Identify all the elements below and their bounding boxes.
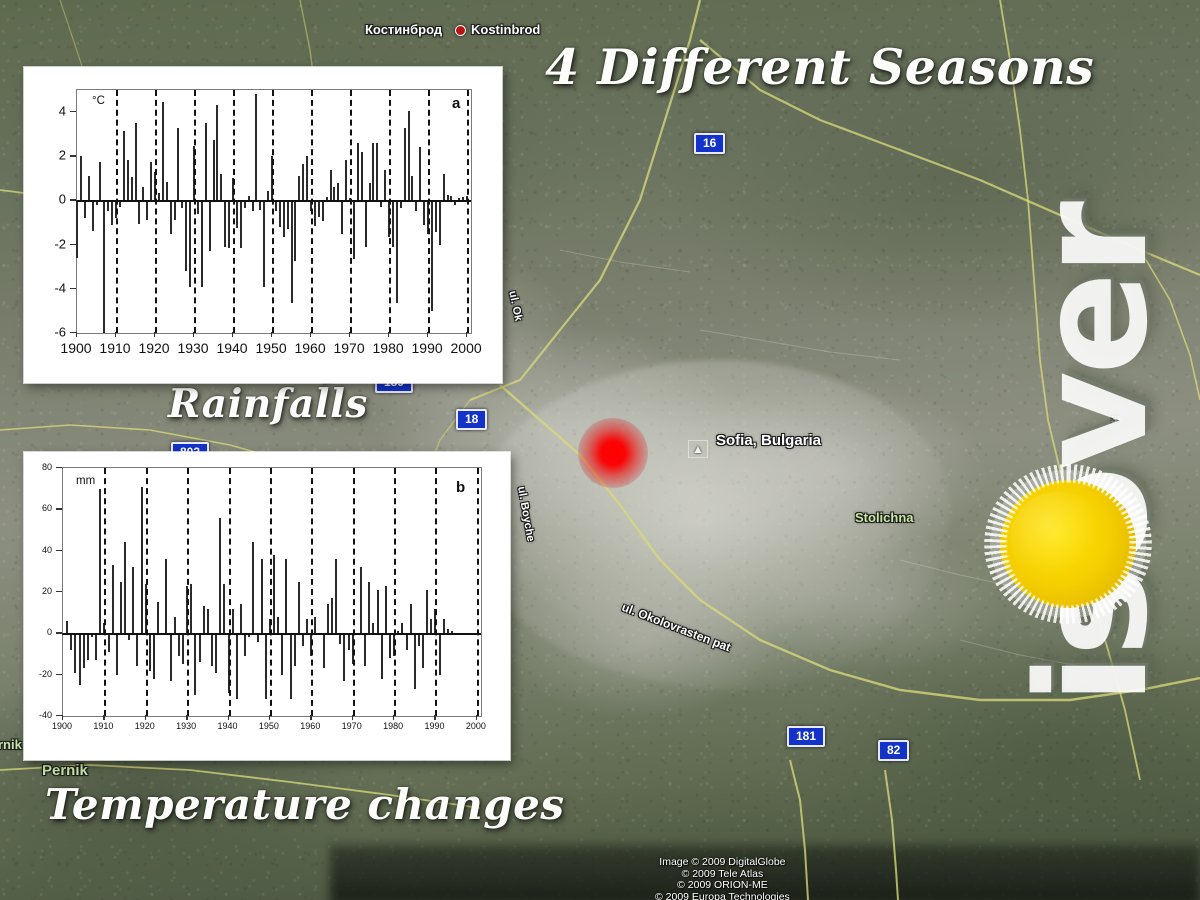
xtick-mark-1900	[76, 332, 77, 337]
bar-1933	[205, 123, 207, 200]
ytick-label-2: 2	[24, 148, 66, 163]
bar-1934	[209, 200, 211, 251]
bar-1949	[267, 191, 269, 201]
bar-1991	[431, 200, 433, 310]
gridline-1960	[311, 468, 313, 716]
bar-1989	[430, 619, 432, 633]
bar-1941	[232, 609, 234, 634]
bar-1913	[116, 633, 118, 674]
ytick-label-0: 0	[24, 627, 52, 637]
gridline-1910	[116, 90, 118, 333]
xtick-label-1920: 1920	[135, 721, 155, 731]
bar-1952	[279, 200, 281, 227]
bar-1967	[339, 633, 341, 643]
bar-1938	[224, 200, 226, 246]
road-shield-181: 181	[787, 726, 825, 747]
isover-sun-icon	[1000, 480, 1136, 608]
gridline-1980	[394, 468, 396, 716]
temperature-unit-label: °C	[92, 95, 105, 107]
bar-1975	[372, 623, 374, 633]
bar-1942	[240, 200, 242, 247]
bar-1918	[146, 200, 148, 220]
bar-1902	[70, 633, 72, 650]
bar-1914	[120, 582, 122, 634]
xtick-mark-1900	[62, 715, 63, 720]
bar-1939	[228, 200, 230, 247]
bar-1922	[153, 633, 155, 678]
bar-1961	[314, 200, 316, 225]
bar-1944	[244, 633, 246, 656]
bar-1963	[323, 633, 325, 668]
bar-1942	[236, 633, 238, 699]
xtick-label-1900: 1900	[60, 340, 91, 356]
chart-panel-temperature: -6-4-2024 190019101920193019401950196019…	[24, 67, 502, 383]
bar-1988	[426, 590, 428, 633]
bar-1979	[384, 170, 386, 201]
ytick-mark-4	[70, 111, 76, 112]
xtick-mark-1910	[115, 332, 116, 337]
bar-1955	[291, 200, 293, 303]
xtick-mark-1960	[310, 715, 311, 720]
rainfall-unit-label: mm	[76, 475, 95, 487]
ytick-label--6: -6	[24, 325, 66, 340]
slide-title: 4 Different Seasons	[545, 38, 1094, 96]
bar-1972	[360, 567, 362, 633]
bar-1904	[79, 633, 81, 685]
attribution-line-4: © 2009 Europa Technologies	[655, 892, 790, 900]
bar-1948	[263, 200, 265, 286]
ytick-mark-80	[56, 467, 62, 468]
bar-1927	[174, 617, 176, 634]
chart-panel-rainfall: -40-20020406080 190019101920193019401950…	[24, 452, 510, 760]
xtick-label-1990: 1990	[412, 340, 443, 356]
bar-1958	[302, 633, 304, 645]
bar-1911	[108, 633, 110, 652]
sofia-location-marker	[578, 418, 648, 488]
road-shield-82: 82	[878, 740, 909, 761]
bar-1989	[423, 200, 425, 224]
bar-1991	[439, 633, 441, 674]
gridline-1990	[435, 468, 437, 716]
bar-1901	[66, 621, 68, 633]
slide-canvas: ▲ Костинброд Kostinbrod Sofia, Bulgaria …	[0, 0, 1200, 900]
gridline-1970	[350, 90, 352, 333]
bar-1954	[287, 200, 289, 229]
ytick-label-40: 40	[24, 545, 52, 555]
xtick-mark-1960	[310, 332, 311, 337]
xtick-mark-1920	[154, 332, 155, 337]
bar-1937	[220, 174, 222, 201]
bar-1974	[368, 582, 370, 634]
gridline-2000	[477, 468, 479, 716]
bar-1933	[199, 633, 201, 662]
bar-1923	[157, 602, 159, 633]
bar-1953	[281, 633, 283, 674]
bar-1967	[337, 183, 339, 201]
bar-1983	[406, 633, 408, 650]
gridline-1940	[229, 468, 231, 716]
xtick-label-1930: 1930	[177, 340, 208, 356]
map-label-stolichna: Stolichna	[855, 510, 914, 525]
gridline-1920	[146, 468, 148, 716]
gridline-1990	[428, 90, 430, 333]
bar-1978	[385, 586, 387, 634]
ytick-mark-0	[70, 199, 76, 200]
bar-1907	[103, 200, 105, 333]
bar-1976	[372, 143, 374, 200]
ytick-mark--20	[56, 674, 62, 675]
bar-1906	[87, 633, 89, 660]
bar-1956	[294, 200, 296, 261]
xtick-mark-1940	[232, 332, 233, 337]
bar-1936	[211, 633, 213, 666]
gridline-1920	[155, 90, 157, 333]
bar-1994	[443, 174, 445, 201]
caption-temperature: Temperature changes	[45, 780, 565, 829]
xtick-label-2000: 2000	[451, 340, 482, 356]
bar-1973	[361, 152, 363, 201]
xtick-mark-1990	[434, 715, 435, 720]
bar-1973	[364, 633, 366, 666]
bar-1957	[298, 176, 300, 200]
map-label-kostinbrod: Kostinbrod	[471, 22, 540, 37]
xtick-mark-1970	[349, 332, 350, 337]
bar-1926	[170, 633, 172, 681]
xtick-label-2000: 2000	[466, 721, 486, 731]
xtick-label-1990: 1990	[424, 721, 444, 731]
rainfall-panel-letter: b	[456, 479, 465, 496]
ytick-mark-60	[56, 508, 62, 509]
ytick-label--4: -4	[24, 280, 66, 295]
bar-1961	[314, 617, 316, 634]
bar-1931	[197, 200, 199, 213]
bar-1974	[365, 200, 367, 246]
bar-1921	[149, 633, 151, 670]
xtick-mark-2000	[466, 332, 467, 337]
map-label-pernik: Pernik	[42, 762, 88, 779]
bar-1966	[335, 559, 337, 633]
xtick-label-1930: 1930	[176, 721, 196, 731]
bar-1905	[83, 633, 85, 668]
xtick-label-1980: 1980	[373, 340, 404, 356]
bar-1992	[435, 200, 437, 232]
map-label-kostinbrod-cyrillic: Костинброд	[365, 22, 442, 37]
bar-1951	[273, 555, 275, 634]
xtick-label-1980: 1980	[383, 721, 403, 731]
rainfall-zero-line	[63, 633, 481, 634]
bar-1947	[259, 200, 261, 210]
bar-1943	[240, 604, 242, 633]
map-label-pernik-clipped: rnik	[0, 737, 22, 752]
bar-1987	[415, 200, 417, 211]
bar-1923	[166, 182, 168, 201]
ytick-mark-20	[56, 591, 62, 592]
bar-1969	[348, 633, 350, 650]
bar-1985	[408, 111, 410, 200]
xtick-mark-1980	[388, 332, 389, 337]
bar-1929	[182, 633, 184, 664]
ytick-label--40: -40	[24, 710, 52, 720]
gridline-1950	[272, 90, 274, 333]
ytick-mark-2	[70, 155, 76, 156]
bar-1906	[99, 162, 101, 201]
ytick-label-0: 0	[24, 192, 66, 207]
bar-1945	[252, 200, 254, 211]
ytick-mark-40	[56, 550, 62, 551]
xtick-label-1960: 1960	[300, 721, 320, 731]
bar-1951	[275, 200, 277, 211]
caption-rainfalls: Rainfalls	[168, 381, 368, 427]
ytick-mark--2	[70, 244, 76, 245]
ytick-label--2: -2	[24, 236, 66, 251]
bar-1982	[401, 623, 403, 633]
bar-1928	[185, 200, 187, 271]
bar-1946	[255, 94, 257, 200]
bar-1964	[327, 604, 329, 633]
gridline-1980	[389, 90, 391, 333]
bar-1966	[333, 187, 335, 200]
attribution-line-1: Image © 2009 DigitalGlobe	[655, 857, 790, 869]
bar-1959	[306, 619, 308, 633]
bar-1921	[158, 193, 160, 201]
bar-1957	[298, 582, 300, 634]
bar-1949	[265, 633, 267, 699]
bar-1931	[190, 584, 192, 634]
bar-1915	[124, 542, 126, 633]
bar-1912	[112, 565, 114, 633]
bar-1922	[162, 102, 164, 200]
map-attribution: Image © 2009 DigitalGlobe © 2009 Tele At…	[655, 857, 790, 900]
ytick-label-80: 80	[24, 462, 52, 472]
xtick-mark-1910	[103, 715, 104, 720]
ytick-label-60: 60	[24, 503, 52, 513]
bar-1958	[302, 164, 304, 200]
bar-1968	[343, 633, 345, 681]
city-dot-kostinbrod	[455, 25, 466, 36]
bar-1956	[294, 633, 296, 666]
bar-1935	[213, 140, 215, 201]
bar-1963	[322, 200, 324, 221]
bar-1984	[404, 128, 406, 201]
bar-1984	[410, 604, 412, 633]
bar-1993	[439, 200, 441, 244]
bar-1919	[141, 487, 143, 634]
ytick-mark-0	[56, 632, 62, 633]
bar-1915	[135, 123, 137, 200]
xtick-mark-1970	[352, 715, 353, 720]
bar-1936	[216, 105, 218, 200]
bar-1909	[99, 489, 101, 634]
bar-1900	[76, 200, 78, 257]
bar-1968	[341, 200, 343, 233]
xtick-label-1920: 1920	[138, 340, 169, 356]
gridline-1950	[270, 468, 272, 716]
bar-1908	[107, 200, 109, 211]
bar-1902	[84, 200, 86, 218]
bar-1972	[357, 143, 359, 200]
bar-1965	[330, 170, 332, 201]
bar-1928	[178, 633, 180, 656]
xtick-mark-1930	[193, 332, 194, 337]
bar-1946	[252, 542, 254, 633]
ytick-mark--4	[70, 288, 76, 289]
xtick-mark-2000	[476, 715, 477, 720]
bar-1962	[318, 200, 320, 217]
bar-1952	[277, 617, 279, 634]
bar-1916	[138, 200, 140, 223]
bar-1924	[170, 200, 172, 233]
bar-1917	[132, 567, 134, 633]
bar-1965	[331, 598, 333, 633]
bar-1985	[414, 633, 416, 689]
bar-1929	[189, 200, 191, 286]
bar-1971	[353, 200, 355, 259]
gridline-2000	[467, 90, 469, 333]
bar-1955	[290, 633, 292, 699]
bar-1908	[95, 633, 97, 660]
bar-1925	[174, 200, 176, 220]
temperature-panel-letter: a	[452, 95, 460, 112]
attribution-line-3: © 2009 ORION-ME	[655, 880, 790, 892]
bar-1987	[422, 633, 424, 668]
bar-1901	[80, 156, 82, 200]
xtick-mark-1950	[271, 332, 272, 337]
xtick-label-1910: 1910	[93, 721, 113, 731]
bar-1948	[261, 559, 263, 633]
xtick-label-1950: 1950	[255, 340, 286, 356]
bar-1932	[201, 200, 203, 286]
xtick-mark-1940	[228, 715, 229, 720]
bar-1904	[92, 200, 94, 231]
bar-1975	[369, 183, 371, 201]
gridline-1930	[194, 90, 196, 333]
xtick-label-1960: 1960	[294, 340, 325, 356]
xtick-label-1940: 1940	[216, 340, 247, 356]
xtick-label-1940: 1940	[218, 721, 238, 731]
gridline-1960	[311, 90, 313, 333]
bar-1935	[207, 609, 209, 634]
bar-1988	[419, 147, 421, 200]
temperature-plot-area	[76, 89, 472, 334]
xtick-mark-1950	[269, 715, 270, 720]
xtick-mark-1980	[393, 715, 394, 720]
bar-1909	[111, 200, 113, 224]
xtick-label-1910: 1910	[99, 340, 130, 356]
bar-1979	[389, 633, 391, 658]
rainfall-bars	[63, 468, 481, 716]
bar-1953	[283, 200, 285, 236]
bar-1969	[345, 160, 347, 201]
bar-1934	[203, 606, 205, 633]
bar-1917	[142, 187, 144, 200]
bar-1913	[127, 160, 129, 201]
ytick-label-4: 4	[24, 104, 66, 119]
bar-1959	[306, 156, 308, 200]
bar-1912	[123, 131, 125, 201]
bar-1914	[131, 177, 133, 200]
map-label-sofia: Sofia, Bulgaria	[716, 432, 821, 449]
bar-1941	[236, 200, 238, 228]
bar-1938	[219, 518, 221, 634]
bar-1932	[194, 633, 196, 695]
bar-1937	[215, 633, 217, 672]
xtick-label-1970: 1970	[333, 340, 364, 356]
bar-1918	[136, 633, 138, 666]
sofia-city-icon: ▲	[688, 440, 708, 458]
xtick-mark-1920	[145, 715, 146, 720]
road-label-35: 35	[1111, 414, 1123, 426]
gridline-1930	[187, 468, 189, 716]
bar-1954	[285, 559, 287, 633]
xtick-label-1950: 1950	[259, 721, 279, 731]
bar-1977	[381, 633, 383, 678]
bar-1903	[88, 176, 90, 200]
bar-1939	[223, 584, 225, 634]
xtick-mark-1990	[427, 332, 428, 337]
bar-1977	[376, 143, 378, 200]
bar-1925	[165, 559, 167, 633]
bar-1976	[377, 590, 379, 633]
bar-1926	[177, 128, 179, 201]
bar-1982	[396, 200, 398, 303]
xtick-mark-1930	[186, 715, 187, 720]
rainfall-plot-area	[62, 467, 482, 717]
ytick-label-20: 20	[24, 586, 52, 596]
bar-1986	[418, 633, 420, 645]
gridline-1940	[233, 90, 235, 333]
bar-1919	[150, 162, 152, 201]
road-shield-16: 16	[694, 133, 725, 154]
gridline-1970	[353, 468, 355, 716]
bar-1986	[411, 176, 413, 200]
xtick-label-1900: 1900	[52, 721, 72, 731]
xtick-label-1970: 1970	[342, 721, 362, 731]
ytick-label--20: -20	[24, 669, 52, 679]
gridline-1910	[104, 468, 106, 716]
bar-1992	[443, 619, 445, 633]
bar-1981	[392, 200, 394, 246]
bar-1903	[74, 633, 76, 672]
road-shield-18: 18	[456, 409, 487, 430]
